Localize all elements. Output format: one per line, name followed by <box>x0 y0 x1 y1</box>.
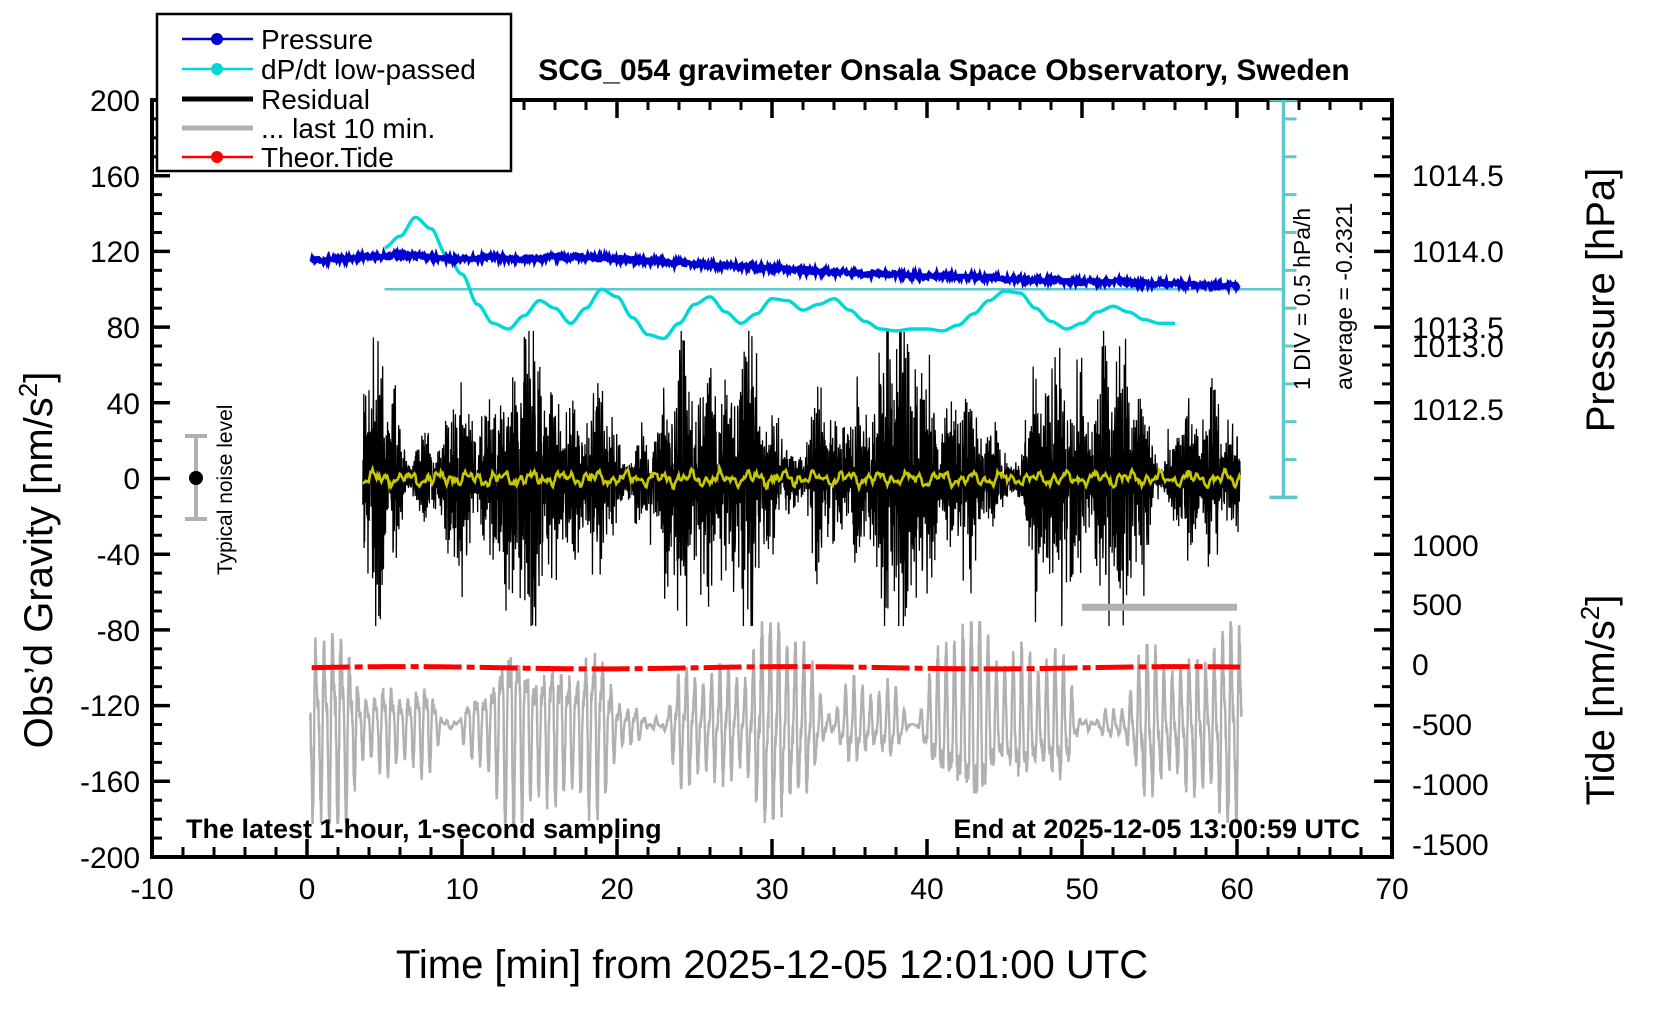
right-tide-axis-title-end: ] <box>1579 595 1623 606</box>
right-pressure-axis-title-text: Pressure [hPa] <box>1579 168 1623 433</box>
legend-label: ... last 10 min. <box>261 113 435 144</box>
page-title: SCG_054 gravimeter Onsala Space Observat… <box>538 54 1350 87</box>
bottom-tick-label: 20 <box>600 873 633 906</box>
right-tide-axis-title-sup: 2 <box>1575 606 1605 620</box>
bottom-right-annotation: End at 2025-12-05 13:00:59 UTC <box>953 814 1360 844</box>
pressure-tick-label-3: 1013.0 <box>1412 331 1504 364</box>
tide-tick-label: 1000 <box>1412 530 1479 563</box>
left-tick-label: -40 <box>97 539 140 572</box>
typical-noise-level-label: Typical noise level <box>214 405 237 575</box>
bottom-tick-label: 50 <box>1065 873 1098 906</box>
bottom-tick-label: 0 <box>299 873 316 906</box>
bottom-left-annotation: The latest 1-hour, 1-second sampling <box>186 814 662 844</box>
legend-swatch-marker <box>211 33 223 45</box>
legend-label: Pressure <box>261 24 373 55</box>
legend-label: dP/dt low-passed <box>261 54 476 85</box>
bottom-tick-label: -10 <box>130 873 173 906</box>
pressure-tick-label: 1014.5 <box>1412 160 1504 193</box>
left-tick-label: 200 <box>90 85 140 118</box>
bottom-axis-title-text: Time [min] from 2025-12-05 12:01:00 UTC <box>396 943 1148 987</box>
tide-tick-label: -1500 <box>1412 829 1489 862</box>
right-tide-axis-title: Tide [nm/s2] <box>1575 595 1623 806</box>
series-theoretical-tide <box>312 667 1240 669</box>
gravimeter-chart: 200 160 120 80 40 0 -40 -80 -120 -160 -2… <box>0 0 1660 1020</box>
legend-label: Residual <box>261 84 370 115</box>
left-tick-label: -160 <box>80 766 140 799</box>
right-tide-axis-title-text: Tide [nm/s <box>1579 620 1623 805</box>
legend-swatch-marker <box>211 151 223 163</box>
right-pressure-axis-title: Pressure [hPa] <box>1579 168 1623 433</box>
left-tick-label: -200 <box>80 842 140 875</box>
left-axis-title-text: Obs’d Gravity [nm/s <box>17 397 61 748</box>
left-tick-label: 80 <box>107 312 140 345</box>
bottom-tick-label: 30 <box>755 873 788 906</box>
legend[interactable]: Pressure dP/dt low-passed Residual ... l… <box>157 14 511 173</box>
left-tick-label: 160 <box>90 161 140 194</box>
dpdt-average-label: average = -0.2321 <box>1331 203 1357 390</box>
tide-tick-label: -500 <box>1412 709 1472 742</box>
left-axis-title-sup: 2 <box>13 383 43 397</box>
left-tick-label: 120 <box>90 236 140 269</box>
left-axis-title-end: ] <box>17 372 61 383</box>
tide-tick-label: 500 <box>1412 589 1462 622</box>
bottom-tick-label: 40 <box>910 873 943 906</box>
bottom-tick-label: 70 <box>1375 873 1408 906</box>
bottom-tick-label: 60 <box>1220 873 1253 906</box>
svg-text:Obs’d Gravity [nm/s2]: Obs’d Gravity [nm/s2] <box>13 372 61 749</box>
left-tick-label: -80 <box>97 615 140 648</box>
legend-swatch-marker <box>211 63 223 75</box>
pressure-tick-label: 1014.0 <box>1412 236 1504 269</box>
tide-tick-label: 0 <box>1412 649 1429 682</box>
dpdt-div-scale-label: 1 DIV = 0.5 hPa/h <box>1289 208 1315 390</box>
bottom-tick-label: 10 <box>445 873 478 906</box>
pressure-tick-label-4: 1012.5 <box>1412 394 1504 427</box>
left-tick-label: 40 <box>107 388 140 421</box>
left-axis-title: Obs’d Gravity [nm/s2] <box>13 372 61 749</box>
left-tick-label: 0 <box>123 463 140 496</box>
gravimeter-plot-page: 200 160 120 80 40 0 -40 -80 -120 -160 -2… <box>0 0 1660 1020</box>
svg-text:Tide [nm/s2]: Tide [nm/s2] <box>1575 595 1623 806</box>
tide-tick-label: -1000 <box>1412 769 1489 802</box>
left-tick-label: -120 <box>80 690 140 723</box>
bottom-axis-title: Time [min] from 2025-12-05 12:01:00 UTC <box>396 943 1148 987</box>
legend-label: Theor.Tide <box>261 142 394 173</box>
